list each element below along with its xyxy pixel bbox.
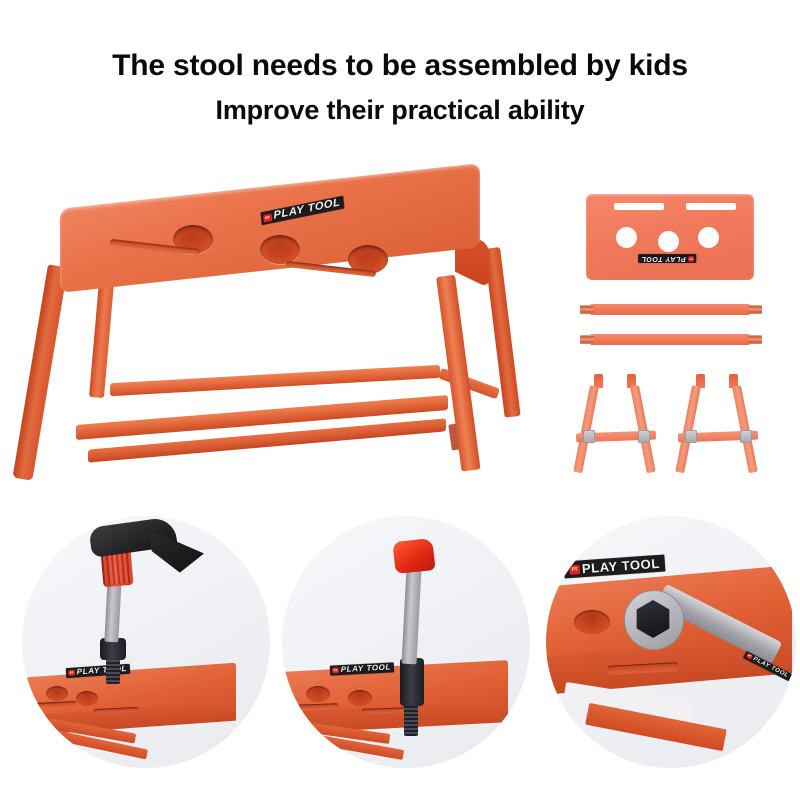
brand-badge-icon: PT [688,256,694,262]
headline-line-2: Improve their practical ability [0,90,800,130]
product-marketing-image: The stool needs to be assembled by kids … [0,0,800,800]
part-a-frame-leg-1 [578,374,654,474]
mini-seat-hole-1 [306,686,330,702]
part-seat-panel: PT PLAY TOOL [586,194,754,280]
brand-badge-icon: PT [332,667,339,673]
mini-seat-hole-2 [76,691,98,706]
brand-badge-icon: PT [263,213,272,222]
brand-name-text: PLAY TOOL [341,663,392,674]
panel-slot-2 [686,203,736,210]
detail-photo-socket-wrench: PT PLAY TOOL PT PLAY TOOL [546,516,796,768]
mini-brand-label: PT PLAY TOOL [564,555,666,579]
detail-photo-hammer-screwdriver: PT PLAY TOOL [22,516,270,768]
a-frame-joint-left [583,430,595,443]
rail-end-right [748,305,762,314]
brand-badge-icon: PT [746,653,753,660]
stool-seat-top [60,163,480,293]
mini-seat-hole-2 [348,690,372,706]
screwdriver-shaft [104,578,121,643]
screwdriver-knob [392,538,435,574]
panel-hole-2 [658,231,679,252]
detail-photo-knob-screwdriver: PT PLAY TOOL [282,516,530,768]
brand-badge-icon: PT [68,670,75,677]
panel-hole-3 [698,227,719,248]
assembled-stool-illustration: PT PLAY TOOL [18,178,538,478]
headline-block: The stool needs to be assembled by kids … [0,46,800,130]
panel-hole-1 [616,227,637,248]
rail-end-left [580,335,594,344]
rail-end-left [580,305,594,314]
bolt-thread [404,702,418,736]
brand-badge-icon: PT [569,564,580,574]
headline-line-1: The stool needs to be assembled by kids [0,46,800,86]
a-frame-joint-right [638,430,650,443]
screwdriver-shaft [401,568,421,665]
brand-name-text: PLAY TOOL [641,255,686,262]
mini-seat-hole-1 [46,686,68,701]
rail-end-right [748,335,762,344]
bolt-collar [400,658,424,706]
stool-leg-front-left [12,264,67,480]
part-a-frame-leg-2 [680,374,756,474]
panel-brand-label: PT PLAY TOOL [638,254,696,263]
mini-seat-hole-1 [574,610,610,634]
a-frame-joint-right [740,430,752,443]
disassembled-parts-illustration: PT PLAY TOOL [560,186,790,486]
brand-name-text: PLAY TOOL [581,557,660,575]
panel-slot-1 [614,203,664,210]
a-frame-joint-left [685,430,697,443]
stool-seat-hole-2 [260,235,300,264]
stool-rail-upper [110,365,440,396]
